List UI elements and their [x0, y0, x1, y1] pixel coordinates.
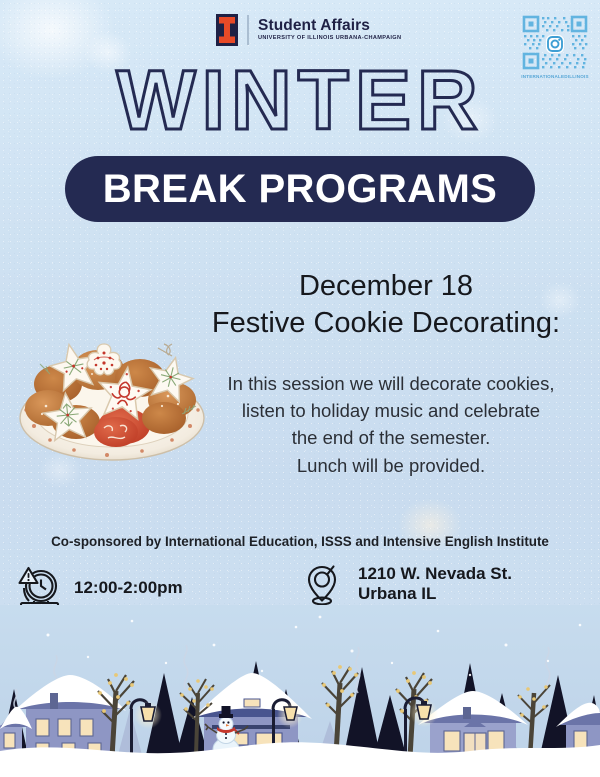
illinois-block-i-icon [216, 14, 238, 46]
university-subtitle: UNIVERSITY OF ILLINOIS URBANA-CHAMPAIGN [258, 36, 401, 42]
event-title: December 18 Festive Cookie Decorating: [180, 268, 592, 342]
map-pin-icon [300, 560, 346, 608]
event-location-item: 1210 W. Nevada St. Urbana IL [300, 560, 512, 608]
illinois-student-affairs-logo: Student Affairs UNIVERSITY OF ILLINOIS U… [216, 14, 401, 46]
student-affairs-text: Student Affairs UNIVERSITY OF ILLINOIS U… [258, 18, 401, 42]
event-location-value: 1210 W. Nevada St. Urbana IL [358, 564, 512, 604]
logo-divider [247, 15, 249, 45]
description-line: Lunch will be provided. [196, 452, 586, 479]
break-programs-banner: BREAK PROGRAMS [65, 156, 535, 222]
description-line: listen to holiday music and celebrate [196, 397, 586, 424]
winter-village-illustration [0, 605, 600, 777]
description-line: the end of the semester. [196, 424, 586, 451]
location-line-1: 1210 W. Nevada St. [358, 564, 512, 584]
description-line: In this session we will decorate cookies… [196, 370, 586, 397]
cookie-plate-illustration [12, 322, 212, 467]
student-affairs-title: Student Affairs [258, 18, 401, 34]
location-line-2: Urbana IL [358, 584, 512, 604]
event-name: Festive Cookie Decorating: [180, 305, 592, 342]
event-description: In this session we will decorate cookies… [196, 370, 586, 479]
cosponsor-text: Co-sponsored by International Education,… [0, 534, 600, 549]
page-title-break-programs: BREAK PROGRAMS [103, 169, 498, 209]
event-time-value: 12:00-2:00pm [74, 578, 183, 598]
instagram-icon [546, 35, 564, 53]
event-date: December 18 [180, 268, 592, 305]
page-title-winter: WINTER [0, 58, 600, 142]
poster: Student Affairs UNIVERSITY OF ILLINOIS U… [0, 0, 600, 777]
